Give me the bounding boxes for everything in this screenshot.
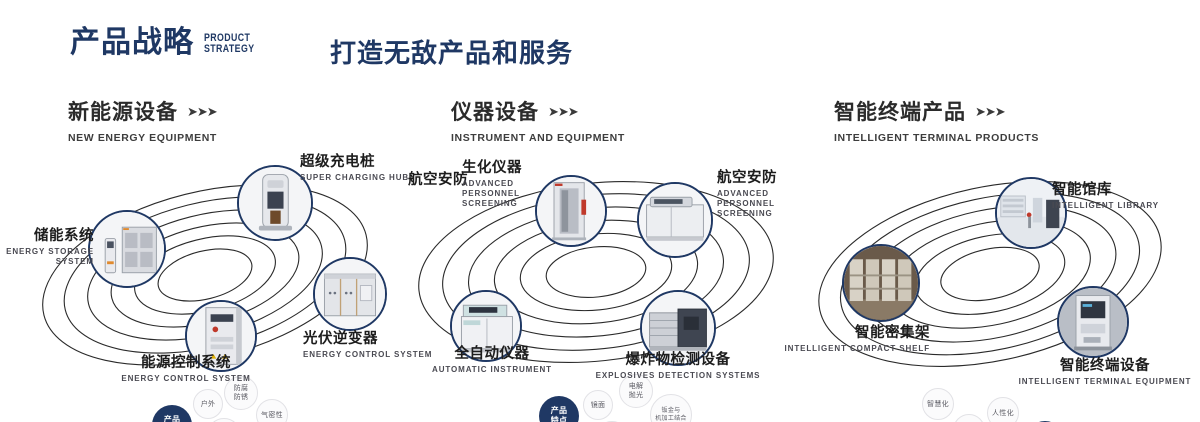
node-label-en: ADVANCED PERSONNEL SCREENING [462,179,554,209]
node-label-cn: 智能终端设备 [1005,358,1200,375]
label-biochemistry-instrument: 生化仪器 ADVANCED PERSONNEL SCREENING [462,160,554,209]
core-line1: 产品 [164,415,181,422]
cluster-intelligent: 智慧化 人性化 数字化 产品 特点 [790,150,1200,410]
node-label-cn: 生化仪器 [462,160,554,177]
feature-label-line2: 抛光 [629,392,644,399]
cluster-instrument: 产品 特点 镜面 电解 抛光 钣金与 机加工结合 零缺陷 航空安防 [400,150,800,410]
node-label-cn: 智能密集架 [770,325,930,342]
feature-label-line1: 防腐 [234,385,249,392]
chevron-right-icon: ➤➤➤ [975,105,1005,118]
node-label-en: ENERGY CONTROL SYSTEM [86,374,286,384]
node-intelligent-terminal-equipment[interactable] [1057,286,1129,358]
feature-label: 户外 [201,400,216,409]
feature-bubble-digitalization: 数字化 [953,414,985,422]
label-super-charging-hub: 超级充电桩 SUPER CHARGING HUB [300,154,409,183]
feature-label: 镜面 [591,401,606,410]
section-title-en-intelligent: INTELLIGENT TERMINAL PRODUCTS [834,132,1039,144]
section-heading-instrument: 仪器设备 ➤➤➤ INSTRUMENT AND EQUIPMENT [451,96,625,144]
label-intelligent-library: 智能馆库 INTELLIGENT LIBRARY [1052,182,1159,211]
section-title-cn-intelligent: 智能终端产品 ➤➤➤ [834,96,1039,126]
section-title-text: 新能源设备 [68,96,178,126]
feature-label-line2: 防锈 [234,394,249,401]
node-label-cn: 智能馆库 [1052,182,1159,199]
page-subtitle: 打造无敌产品和服务 [330,33,573,70]
feature-bubble-humanization: 人性化 [987,397,1019,422]
node-label-cn: 储能系统 [0,228,94,245]
label-explosives-detection-systems: 爆炸物检测设备 EXPLOSIVES DETECTION SYSTEMS [578,352,778,381]
node-energy-storage-system[interactable] [88,210,166,288]
product-strategy-infographic: 产品战略 PRODUCT STRATEGY 打造无敌产品和服务 新能源设备 ➤➤… [0,0,1200,422]
feature-label: 智慧化 [927,400,949,409]
feature-label-line1: 钣金与 [662,408,681,414]
feature-label: 气密性 [261,411,283,420]
node-advanced-personnel-screening[interactable] [637,182,713,258]
compact-shelving-icon [844,246,918,320]
label-energy-control-system: 能源控制系统 ENERGY CONTROL SYSTEM [86,355,286,384]
cluster-new-energy: 产品 特点 户外 防腐 防锈 气密性 防水 防尘 [0,150,400,410]
pv-inverter-cabinet-icon [315,259,385,329]
node-intelligent-compact-shelf[interactable] [842,244,920,322]
label-intelligent-compact-shelf: 智能密集架 INTELLIGENT COMPACT SHELF [770,325,930,354]
node-label-cn: 能源控制系统 [86,355,286,372]
feature-label: 人性化 [992,409,1014,418]
feature-bubble-mirror: 镜面 [583,390,613,420]
feature-bubble-waterproof: 防水 防尘 [207,418,241,422]
section-title-en-instrument: INSTRUMENT AND EQUIPMENT [451,132,625,144]
page-title-cn: 产品战略 [70,28,194,58]
self-service-kiosk-icon [1059,288,1127,356]
page-title-en-line2: STRATEGY [204,44,254,55]
label-automatic-instrument: 全自动仪器 AUTOMATIC INSTRUMENT [392,346,592,375]
section-heading-intelligent: 智能终端产品 ➤➤➤ INTELLIGENT TERMINAL PRODUCTS [834,96,1039,144]
feature-label-line1: 电解 [629,383,644,390]
label-aviation-security-left: 航空安防 [408,172,468,189]
node-label-cn: 航空安防 [408,172,468,189]
section-title-text: 仪器设备 [451,96,539,126]
section-title-cn-instrument: 仪器设备 ➤➤➤ [451,96,625,126]
feature-bubble-intelligence: 智慧化 [922,388,954,420]
core-line2: 特点 [551,416,568,422]
node-label-cn: 爆炸物检测设备 [578,352,778,369]
section-title-text: 智能终端产品 [834,96,966,126]
node-label-en: INTELLIGENT LIBRARY [1052,201,1159,211]
node-label-en: INTELLIGENT COMPACT SHELF [770,344,930,354]
feature-label-line2: 机加工结合 [655,416,687,422]
page-title-en: PRODUCT STRATEGY [204,33,254,58]
label-intelligent-terminal-equipment: 智能终端设备 INTELLIGENT TERMINAL EQUIPMENT [1005,358,1200,387]
node-label-en: ENERGY STORAGE SYSTEM [0,247,94,267]
node-label-en: EXPLOSIVES DETECTION SYSTEMS [578,371,778,381]
node-label-cn: 超级充电桩 [300,154,409,171]
node-label-cn: 全自动仪器 [392,346,592,363]
chevron-right-icon: ➤➤➤ [187,105,217,118]
chevron-right-icon: ➤➤➤ [548,105,578,118]
feature-bubble-outdoor: 户外 [193,389,223,419]
core-line1: 产品 [551,406,568,415]
node-photovoltaic-inverter[interactable] [313,257,387,331]
node-label-en: SUPER CHARGING HUB [300,173,409,183]
node-label-en: AUTOMATIC INSTRUMENT [392,365,592,375]
screening-machine-icon [639,184,711,256]
section-title-en-new-energy: NEW ENERGY EQUIPMENT [68,132,217,144]
section-title-cn-new-energy: 新能源设备 ➤➤➤ [68,96,217,126]
header-title-group: 产品战略 PRODUCT STRATEGY [70,28,267,58]
node-label-en: INTELLIGENT TERMINAL EQUIPMENT [1005,377,1200,387]
energy-storage-cabinet-icon [90,212,164,286]
label-energy-storage-system: 储能系统 ENERGY STORAGE SYSTEM [0,228,94,267]
section-heading-new-energy: 新能源设备 ➤➤➤ NEW ENERGY EQUIPMENT [68,96,217,144]
